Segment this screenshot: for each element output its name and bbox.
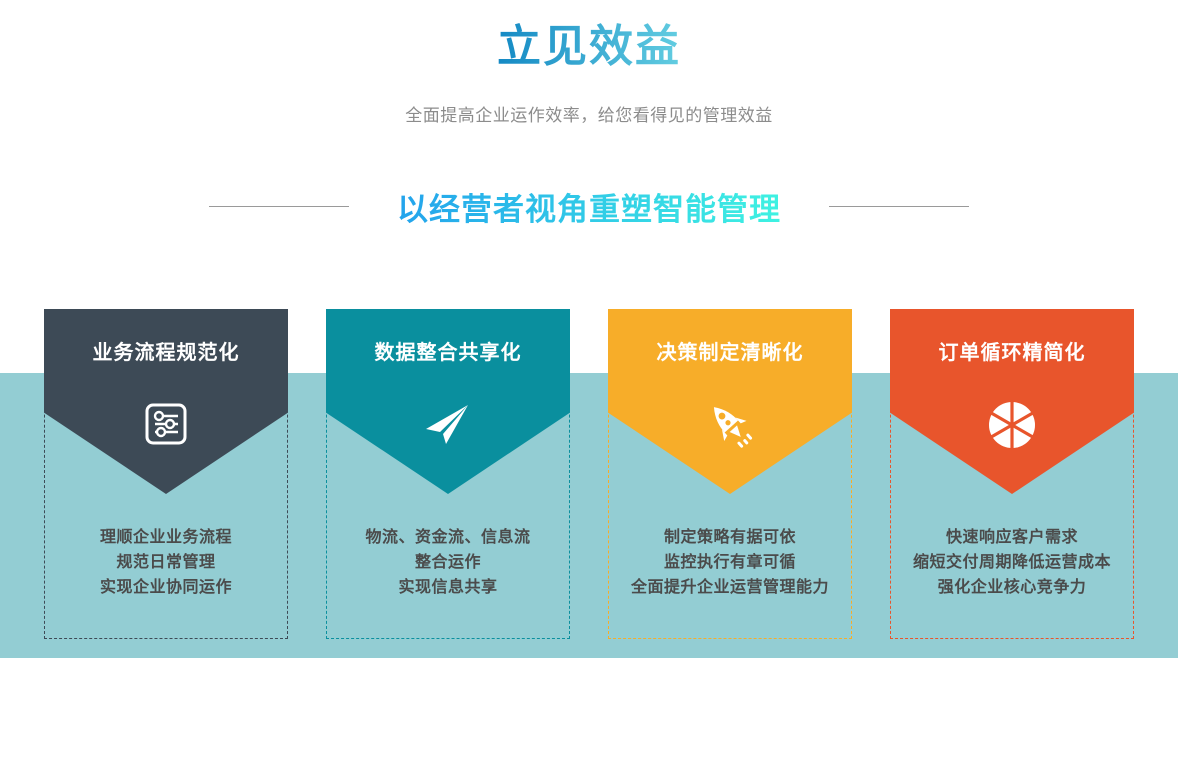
header-block: 立见效益 全面提高企业运作效率，给您看得见的管理效益 以经营者视角重塑智能管理 xyxy=(0,0,1178,229)
aperture-icon xyxy=(890,399,1134,451)
card-title: 决策制定清晰化 xyxy=(608,336,852,365)
feature-card-list: 业务流程规范化 理顺企业业务流程 规范日常管理 实现企业协同运作 数据整合共享化 xyxy=(0,309,1178,641)
card-body-text: 理顺企业业务流程 规范日常管理 实现企业协同运作 xyxy=(44,525,288,600)
card-title: 数据整合共享化 xyxy=(326,336,570,365)
feature-card[interactable]: 订单循环精简化 快速响应客户需求 缩短交付周期降低运营成本 强化企业核心竞争力 xyxy=(890,309,1134,639)
feature-card[interactable]: 业务流程规范化 理顺企业业务流程 规范日常管理 实现企业协同运作 xyxy=(44,309,288,639)
card-body-text: 快速响应客户需求 缩短交付周期降低运营成本 强化企业核心竞争力 xyxy=(890,525,1134,600)
rocket-icon xyxy=(608,399,852,451)
page-subtitle: 全面提高企业运作效率，给您看得见的管理效益 xyxy=(0,104,1178,128)
card-body-text: 物流、资金流、信息流 整合运作 实现信息共享 xyxy=(326,525,570,600)
sliders-icon xyxy=(44,399,288,449)
paper-plane-icon xyxy=(326,399,570,449)
card-title: 订单循环精简化 xyxy=(890,336,1134,365)
divider-line-left xyxy=(209,206,349,207)
divider-line-right xyxy=(829,206,969,207)
section-heading-row: 以经营者视角重塑智能管理 xyxy=(0,184,1178,229)
card-title: 业务流程规范化 xyxy=(44,336,288,365)
card-body-text: 制定策略有据可依 监控执行有章可循 全面提升企业运营管理能力 xyxy=(608,525,852,600)
page-title: 立见效益 xyxy=(497,22,681,73)
feature-card[interactable]: 决策制定清晰化 制定策略有据可依 监控执行有章可循 全面提升企业运营管理能力 xyxy=(608,309,852,639)
section-heading: 以经营者视角重塑智能管理 xyxy=(397,184,781,229)
feature-card[interactable]: 数据整合共享化 物流、资金流、信息流 整合运作 实现信息共享 xyxy=(326,309,570,639)
